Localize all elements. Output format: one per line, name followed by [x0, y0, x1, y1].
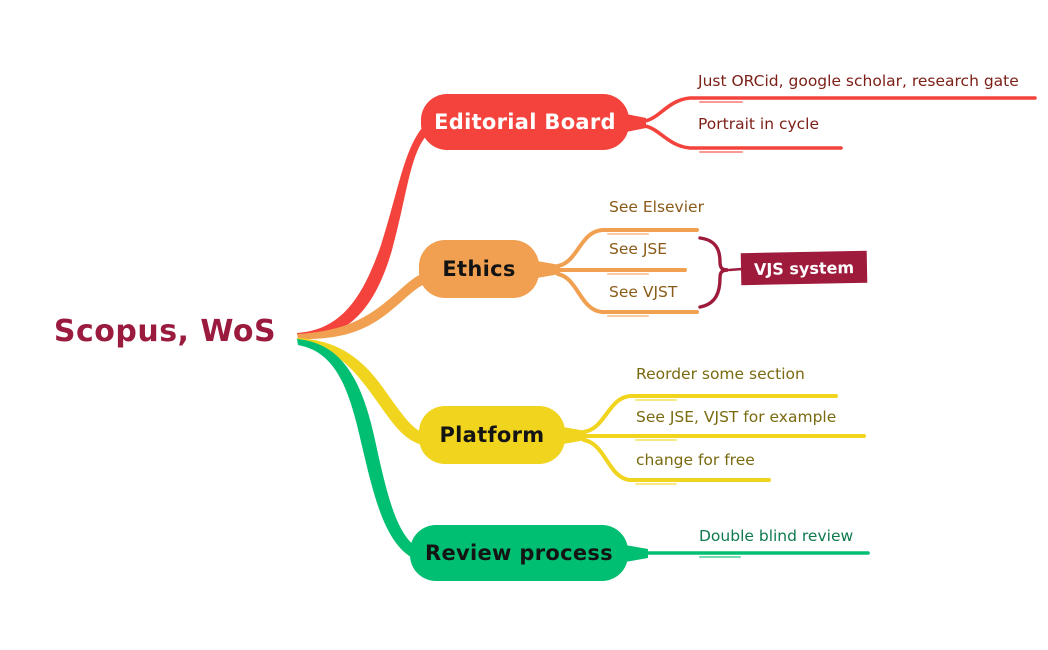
branch-line-platform — [297, 338, 432, 447]
topic-node-ethics[interactable]: Ethics — [419, 240, 539, 298]
root-topic-label[interactable]: Scopus, WoS — [40, 314, 290, 349]
subtopic-platform-see-jse-vjst[interactable]: See JSE, VJST for example — [636, 410, 836, 426]
subtopic-ethics-see-vjst[interactable]: See VJST — [609, 285, 677, 301]
node-nub-editorial-board — [626, 114, 646, 132]
callout-vjs-system[interactable]: VJS system — [741, 251, 868, 285]
branch-line-ethics — [297, 270, 432, 339]
topic-node-review-process[interactable]: Review process — [410, 525, 628, 581]
topic-node-platform[interactable]: Platform — [419, 406, 565, 464]
subtopic-platform-change-for-free[interactable]: change for free — [636, 453, 755, 469]
subtopic-platform-reorder-some-section[interactable]: Reorder some section — [636, 367, 805, 383]
node-nub-review-process — [625, 545, 648, 562]
subtopic-editorial-portrait-in-cycle[interactable]: Portrait in cycle — [698, 117, 819, 133]
subtopic-ethics-see-elsevier[interactable]: See Elsevier — [609, 200, 704, 216]
subtopic-ethics-see-jse[interactable]: See JSE — [609, 242, 667, 258]
subtopic-editorial-just-orcid[interactable]: Just ORCid, google scholar, research gat… — [698, 74, 1019, 90]
ethics-group-brace — [700, 238, 728, 307]
node-nub-platform — [563, 427, 586, 444]
node-nub-ethics — [537, 261, 560, 278]
topic-node-editorial-board[interactable]: Editorial Board — [421, 94, 629, 150]
branch-line-review-process — [297, 339, 422, 562]
subtopic-review-double-blind-review[interactable]: Double blind review — [699, 529, 853, 545]
branch-line-editorial-board — [297, 120, 430, 338]
mindmap-canvas: Scopus, WoS Editorial Board Ethics Platf… — [0, 0, 1048, 650]
